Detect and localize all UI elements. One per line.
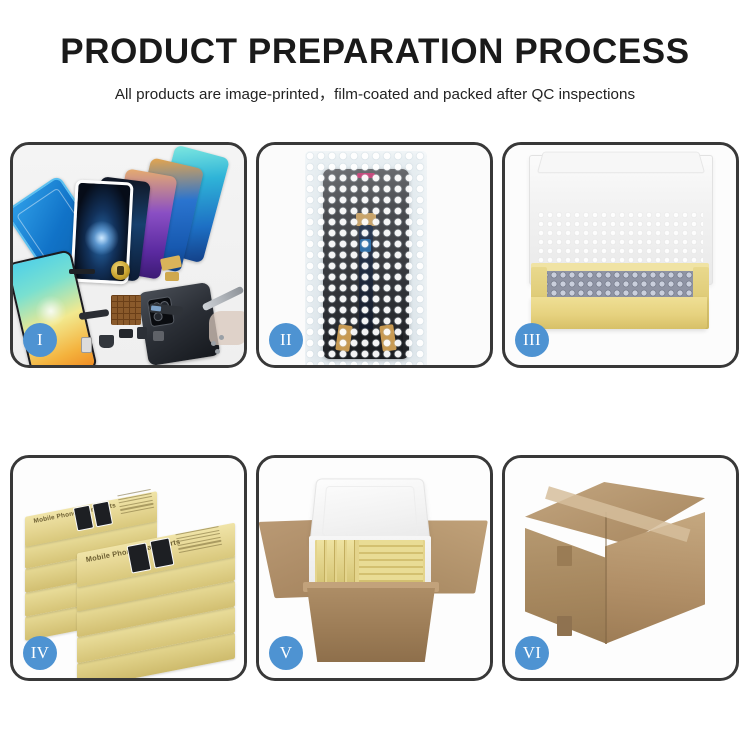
step-panel-4[interactable]: Mobile Phone Spare Parts Mobile Phone Sp… <box>10 455 247 681</box>
process-step-grid: I II <box>10 142 740 681</box>
chip-part-2 <box>137 327 147 339</box>
chip-part-3 <box>153 331 164 341</box>
step-badge-6: VI <box>515 636 549 670</box>
carton-corner-seam <box>605 512 607 644</box>
page-header: PRODUCT PREPARATION PROCESS All products… <box>0 0 750 104</box>
step-panel-3[interactable]: III <box>502 142 739 368</box>
earpiece-part <box>69 269 95 274</box>
screw-part-2 <box>219 335 224 340</box>
sim-tray-part <box>81 337 92 353</box>
box-tray-front <box>531 297 707 329</box>
vibration-motor-part <box>99 335 114 348</box>
carton-tab-upper <box>557 546 572 566</box>
step-badge-3: III <box>515 323 549 357</box>
chip-part-1 <box>119 329 133 338</box>
speaker-coil-part <box>111 261 130 280</box>
step-panel-2[interactable]: II <box>256 142 493 368</box>
technician-hand <box>209 311 244 345</box>
step-panel-5[interactable]: V <box>256 455 493 681</box>
step-badge-4: IV <box>23 636 57 670</box>
carton-front-wall <box>307 588 435 662</box>
bubble-wrap-bag <box>305 151 427 365</box>
gold-contact-part-2 <box>165 272 179 281</box>
step-panel-1[interactable]: I <box>10 142 247 368</box>
packed-retail-boxes <box>315 540 425 584</box>
phone-back-chassis <box>138 282 221 365</box>
page-subtitle: All products are image-printed，film-coat… <box>0 82 750 104</box>
bubble-texture <box>305 151 427 365</box>
step-badge-2: II <box>269 323 303 357</box>
page-title: PRODUCT PREPARATION PROCESS <box>0 34 750 71</box>
screw-part-3 <box>215 349 220 354</box>
packed-boxes-flat <box>359 540 423 584</box>
step-badge-1: I <box>23 323 57 357</box>
step-panel-6[interactable]: VI <box>502 455 739 681</box>
connector-grid-part <box>111 295 141 325</box>
screw-part-1 <box>211 341 216 346</box>
step-badge-5: V <box>269 636 303 670</box>
carton-tab-lower <box>557 616 572 636</box>
